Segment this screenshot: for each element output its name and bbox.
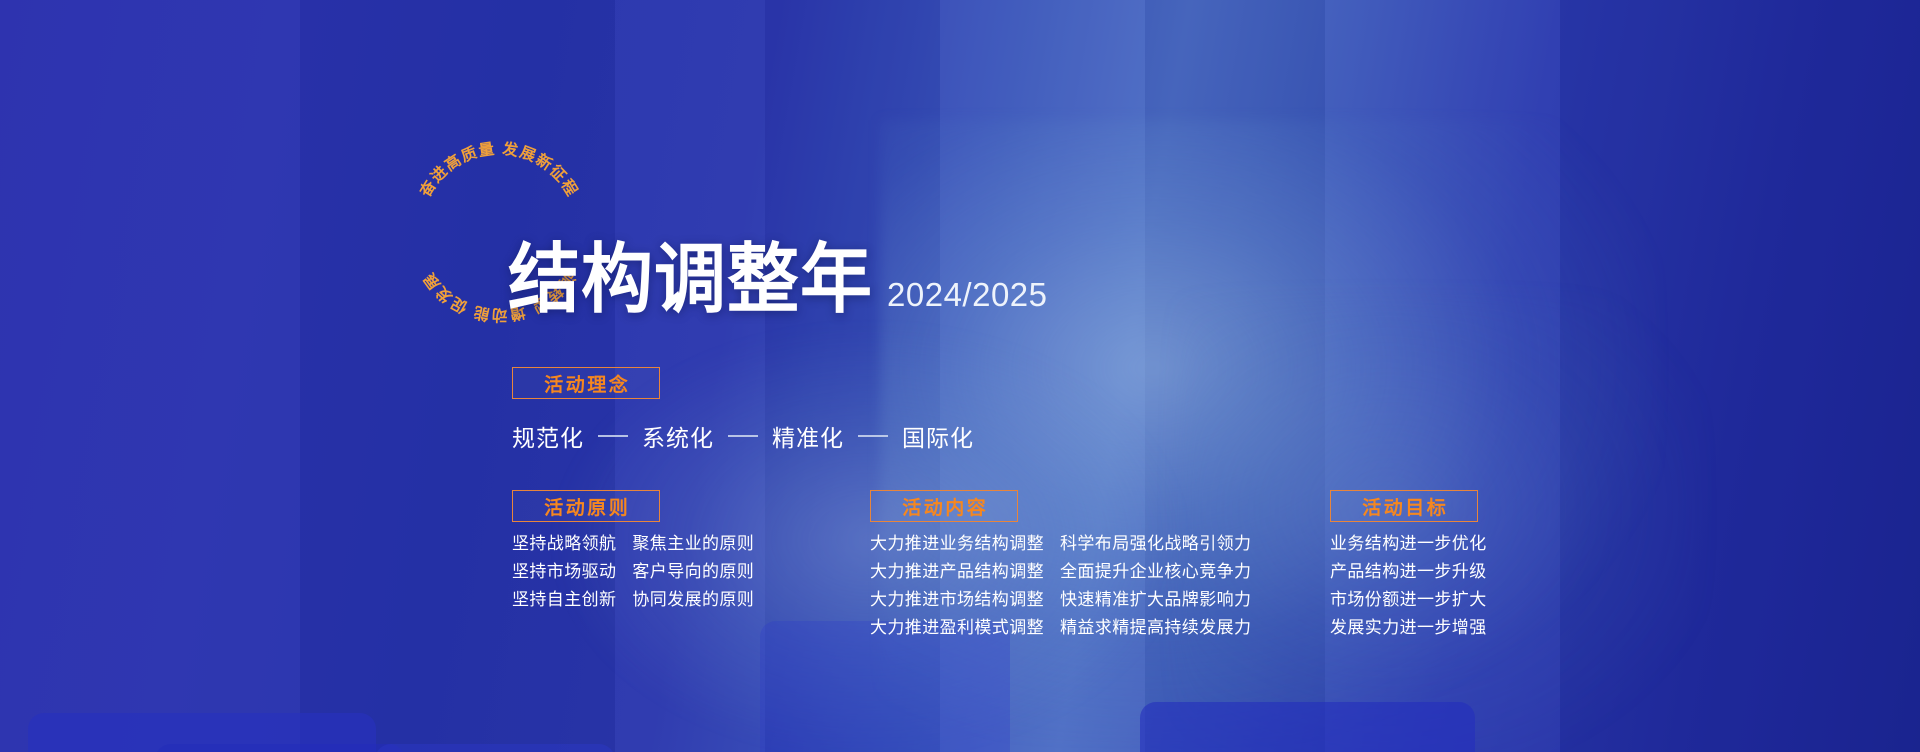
- list-item-secondary-text: 全面提升企业核心竞争力: [1060, 563, 1251, 580]
- badge-activity-content: 活动内容: [870, 490, 1018, 522]
- list-item: 市场份额进一步扩大: [1330, 591, 1487, 608]
- list-item-primary-text: 大力推进业务结构调整: [870, 535, 1044, 552]
- badge-activity-goals-label: 活动目标: [1360, 493, 1449, 520]
- headline: 结构调整年 2024/2025: [508, 246, 1048, 318]
- list-item-primary-text: 发展实力进一步增强: [1330, 619, 1487, 636]
- list-item-secondary-text: 科学布局强化战略引领力: [1060, 535, 1251, 552]
- badge-activity-goals: 活动目标: [1330, 490, 1478, 522]
- campaign-banner: 奋进高质量 发展新征程 调转型 增动能 促发展 结构调整年 2024/2025 …: [0, 0, 1920, 752]
- list-item: 大力推进市场结构调整快速精准扩大品牌影响力: [870, 591, 1251, 608]
- list-item: 坚持市场驱动客户导向的原则: [512, 563, 754, 580]
- badge-activity-concept-label: 活动理念: [542, 370, 631, 397]
- background-rect-2: [375, 744, 615, 752]
- list-item: 坚持自主创新协同发展的原则: [512, 591, 754, 608]
- list-item-primary-text: 大力推进盈利模式调整: [870, 619, 1044, 636]
- list-item-secondary-text: 聚焦主业的原则: [632, 535, 754, 552]
- concept-item: 精准化: [772, 419, 844, 453]
- list-item-secondary-text: 协同发展的原则: [632, 591, 754, 608]
- list-item: 产品结构进一步升级: [1330, 563, 1487, 580]
- list-item-secondary-text: 精益求精提高持续发展力: [1060, 619, 1251, 636]
- badge-activity-principles-label: 活动原则: [542, 493, 631, 520]
- concept-item: 系统化: [642, 419, 714, 453]
- list-item-secondary-text: 快速精准扩大品牌影响力: [1060, 591, 1251, 608]
- concept-separator: [858, 435, 888, 437]
- concept-item: 国际化: [902, 419, 974, 453]
- concept-item: 规范化: [512, 419, 584, 453]
- list-item: 发展实力进一步增强: [1330, 619, 1487, 636]
- column-activity-content: 大力推进业务结构调整科学布局强化战略引领力大力推进产品结构调整全面提升企业核心竞…: [870, 535, 1251, 647]
- seal-top-arc-text: 奋进高质量 发展新征程: [415, 139, 582, 201]
- background-rect-1: [155, 744, 405, 752]
- headline-main-title: 结构调整年: [508, 242, 873, 318]
- headline-year-range: 2024/2025: [887, 278, 1048, 318]
- list-item-primary-text: 坚持市场驱动: [512, 563, 616, 580]
- column-activity-principles: 坚持战略领航聚焦主业的原则坚持市场驱动客户导向的原则坚持自主创新协同发展的原则: [512, 535, 754, 619]
- list-item-primary-text: 大力推进产品结构调整: [870, 563, 1044, 580]
- concept-separator: [728, 435, 758, 437]
- badge-activity-concept: 活动理念: [512, 367, 660, 399]
- column-activity-goals: 业务结构进一步优化产品结构进一步升级市场份额进一步扩大发展实力进一步增强: [1330, 535, 1487, 647]
- badge-activity-content-label: 活动内容: [900, 493, 989, 520]
- concept-keyword-list: 规范化系统化精准化国际化: [512, 419, 974, 453]
- list-item-primary-text: 市场份额进一步扩大: [1330, 591, 1487, 608]
- list-item-primary-text: 坚持自主创新: [512, 591, 616, 608]
- concept-separator: [598, 435, 628, 437]
- list-item-primary-text: 产品结构进一步升级: [1330, 563, 1487, 580]
- list-item-secondary-text: 客户导向的原则: [632, 563, 754, 580]
- list-item: 大力推进产品结构调整全面提升企业核心竞争力: [870, 563, 1251, 580]
- list-item-primary-text: 业务结构进一步优化: [1330, 535, 1487, 552]
- list-item: 大力推进盈利模式调整精益求精提高持续发展力: [870, 619, 1251, 636]
- list-item: 业务结构进一步优化: [1330, 535, 1487, 552]
- list-item-primary-text: 坚持战略领航: [512, 535, 616, 552]
- list-item: 坚持战略领航聚焦主业的原则: [512, 535, 754, 552]
- list-item-primary-text: 大力推进市场结构调整: [870, 591, 1044, 608]
- background-rect-4: [1140, 702, 1475, 752]
- badge-activity-principles: 活动原则: [512, 490, 660, 522]
- list-item: 大力推进业务结构调整科学布局强化战略引领力: [870, 535, 1251, 552]
